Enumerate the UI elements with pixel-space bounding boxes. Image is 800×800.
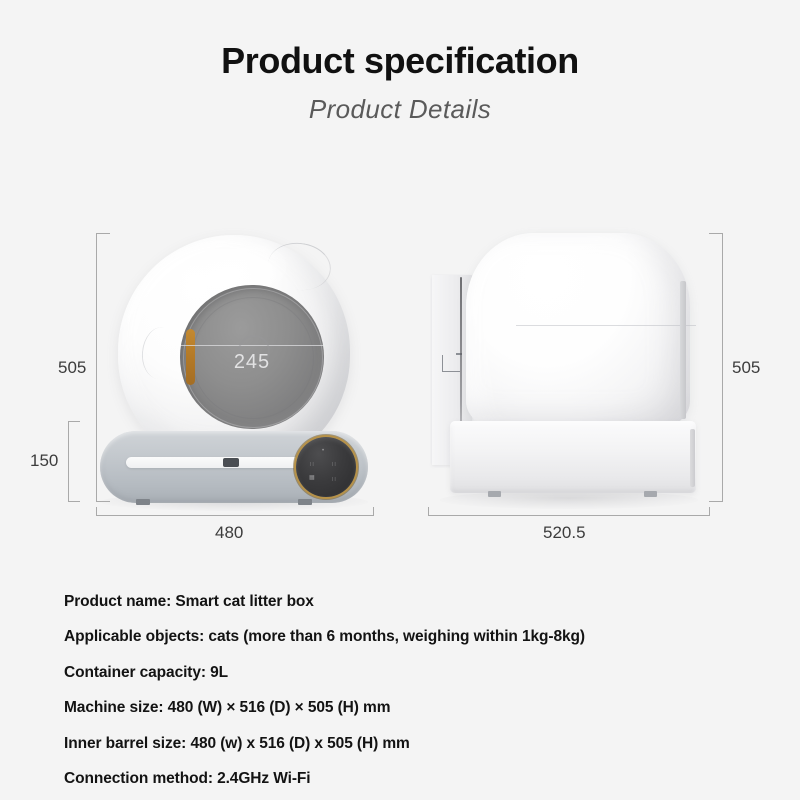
page-header: Product specification Product Details bbox=[0, 0, 800, 125]
front-foot-right bbox=[298, 499, 312, 505]
front-height-dimension-line bbox=[96, 233, 97, 501]
specification-list: Product name: Smart cat litter box Appli… bbox=[64, 592, 764, 788]
side-body-dome bbox=[466, 233, 690, 431]
side-height-dimension-line bbox=[722, 233, 723, 501]
clean-icon[interactable]: ∷ bbox=[310, 462, 314, 468]
empty-icon[interactable]: ∷ bbox=[332, 462, 336, 468]
display-value: 245 bbox=[180, 351, 324, 374]
front-height-tick-top bbox=[96, 233, 110, 234]
side-body-seam bbox=[516, 325, 696, 326]
spec-connection-method: Connection method: 2.4GHz Wi-Fi bbox=[64, 769, 764, 788]
front-base-height-tick-bottom bbox=[68, 501, 80, 502]
side-depth-tick-left bbox=[428, 507, 429, 516]
front-width-tick-left bbox=[96, 507, 97, 516]
spec-inner-barrel-size: Inner barrel size: 480 (w) x 516 (D) x 5… bbox=[64, 734, 764, 753]
side-foot-right bbox=[644, 491, 657, 497]
litter-box-base: • ∷ ∷ ▦ ∷ bbox=[100, 431, 368, 503]
side-base-edge bbox=[690, 429, 695, 487]
spec-container-capacity: Container capacity: 9L bbox=[64, 663, 764, 682]
litter-box-opening: 245 bbox=[180, 285, 324, 429]
side-height-label: 505 bbox=[732, 358, 760, 378]
control-panel[interactable]: • ∷ ∷ ▦ ∷ bbox=[296, 437, 356, 497]
settings-icon[interactable]: ∷ bbox=[332, 477, 336, 483]
body-seam-left bbox=[139, 325, 181, 381]
drawer-handle[interactable] bbox=[223, 458, 239, 467]
rear-bracket-icon bbox=[442, 355, 460, 372]
side-foot-left bbox=[488, 491, 501, 497]
page-subtitle: Product Details bbox=[0, 95, 800, 125]
spec-applicable-objects: Applicable objects: cats (more than 6 mo… bbox=[64, 627, 764, 646]
front-base-height-label: 150 bbox=[30, 451, 58, 471]
side-base bbox=[450, 421, 696, 493]
product-front-view: 245 • ∷ ∷ ▦ ∷ bbox=[100, 235, 370, 520]
front-width-label: 480 bbox=[215, 523, 243, 543]
spec-product-name: Product name: Smart cat litter box bbox=[64, 592, 764, 611]
front-foot-left bbox=[136, 499, 150, 505]
product-diagram: 505 150 480 505 520.5 245 bbox=[0, 225, 800, 555]
side-depth-label: 520.5 bbox=[543, 523, 586, 543]
side-view-shadow bbox=[440, 491, 698, 509]
product-side-view bbox=[432, 233, 712, 523]
front-base-height-dimension-line bbox=[68, 421, 69, 501]
level-icon[interactable]: ▦ bbox=[309, 475, 315, 481]
side-right-post bbox=[680, 281, 686, 419]
front-base-height-tick-top bbox=[68, 421, 80, 422]
front-width-tick-right bbox=[373, 507, 374, 516]
page-title: Product specification bbox=[0, 40, 800, 81]
spec-machine-size: Machine size: 480 (W) × 516 (D) × 505 (H… bbox=[64, 698, 764, 717]
front-height-label: 505 bbox=[58, 358, 86, 378]
power-icon[interactable]: • bbox=[322, 448, 325, 454]
